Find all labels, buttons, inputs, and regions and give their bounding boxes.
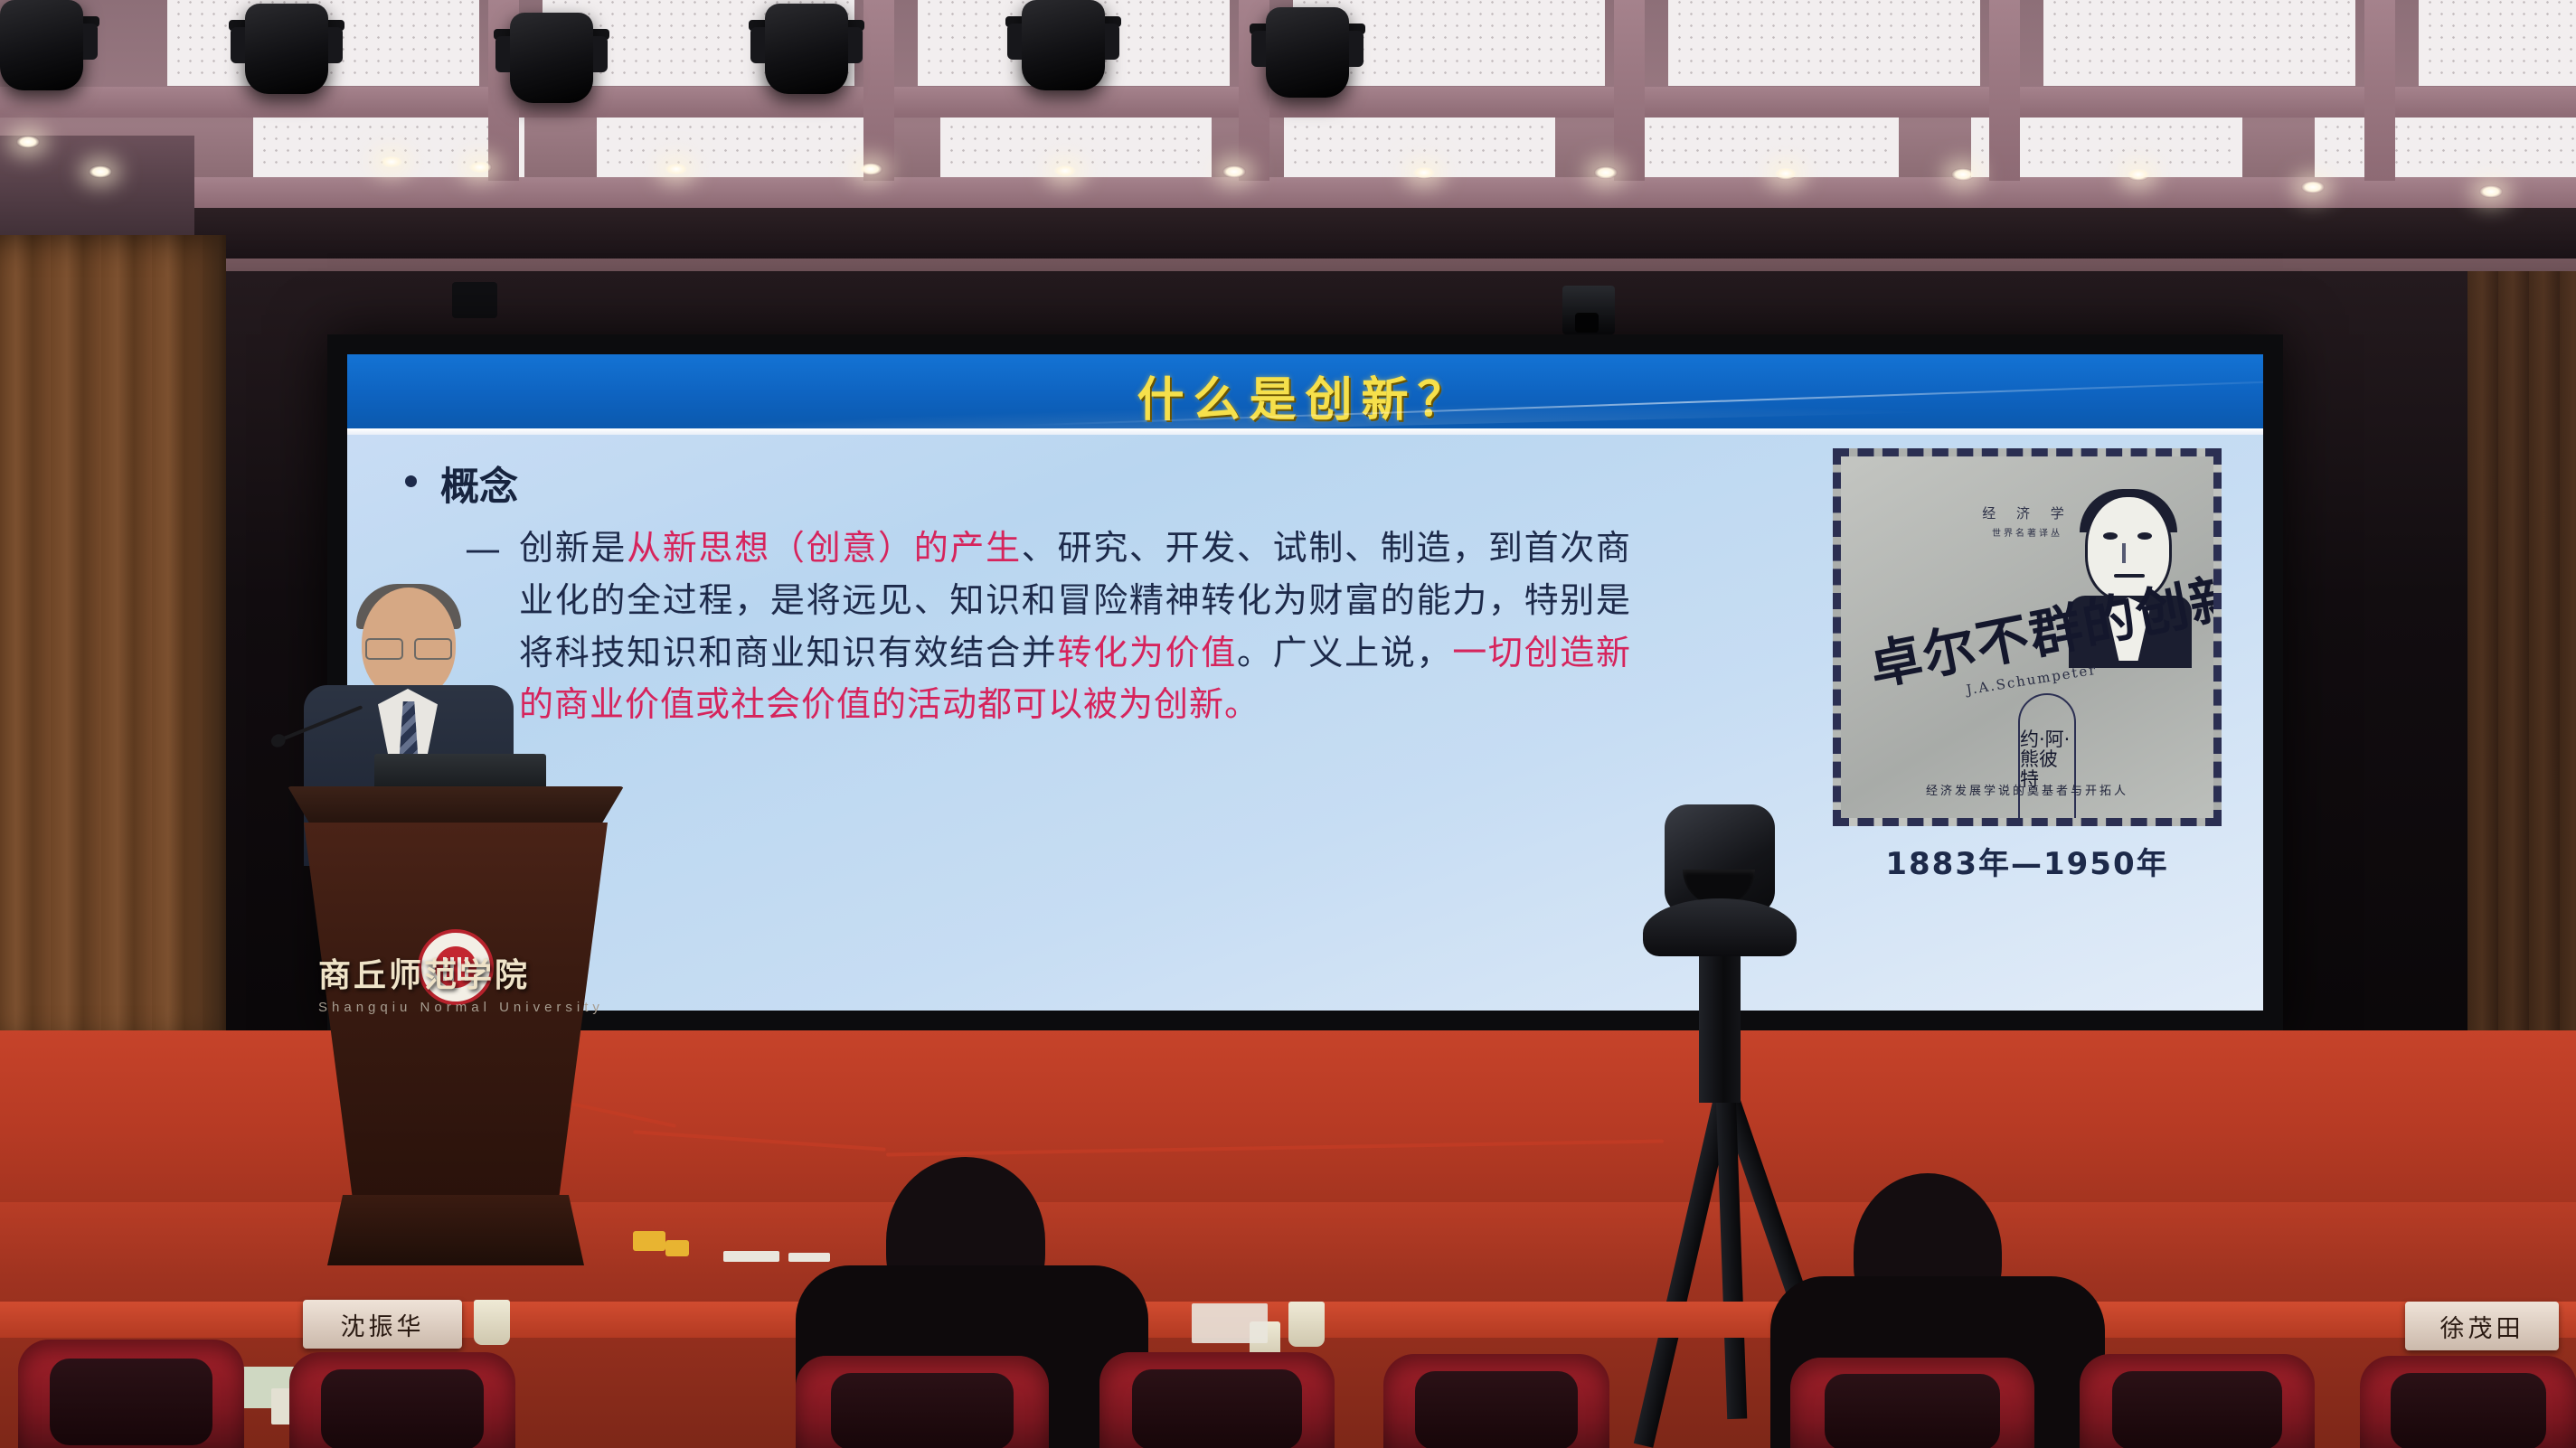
nameplate: 徐茂田 xyxy=(2405,1302,2559,1350)
body-part-0: 创新是 xyxy=(519,528,627,568)
downlight xyxy=(665,163,688,175)
book-author-chinese: 约·阿·熊彼特 xyxy=(2018,693,2076,825)
lectern xyxy=(288,786,624,1265)
downlight xyxy=(1594,166,1618,179)
slide-title: 什么是创新？ xyxy=(347,362,2263,428)
downlight xyxy=(1951,168,1975,181)
downlight xyxy=(2301,181,2325,193)
book-figure: 经 济 学 世界名著译丛 卓尔不群的创新 J.A.Schumpeter 约·阿·… xyxy=(1833,448,2222,883)
slide-bullet-level2: — 创新是从新思想（创意）的产生、研究、开发、试制、制造，到首次商业化的全过程，… xyxy=(465,522,1640,731)
downlight xyxy=(89,165,112,178)
auditorium-seat xyxy=(1383,1354,1609,1448)
paper-on-floor xyxy=(723,1251,779,1262)
book-cover-image: 经 济 学 世界名著译丛 卓尔不群的创新 J.A.Schumpeter 约·阿·… xyxy=(1833,448,2222,826)
downlight xyxy=(2127,168,2150,181)
title-underline xyxy=(347,428,2263,435)
slide-body-paragraph: 创新是从新思想（创意）的产生、研究、开发、试制、制造，到首次商业化的全过程，是将… xyxy=(519,522,1631,731)
nameplate-paper xyxy=(1192,1303,1268,1343)
stage-light xyxy=(765,4,848,94)
wood-panel-left xyxy=(0,235,226,1048)
stage-light xyxy=(1022,0,1105,90)
lecture-hall-scene: 什么是创新？ 概念 — 创新是从新思想（创意）的产生、研究、开发、试制、制造，到… xyxy=(0,0,2576,1448)
presentation-slide: 什么是创新？ 概念 — 创新是从新思想（创意）的产生、研究、开发、试制、制造，到… xyxy=(347,354,2263,1011)
venue-banner: 商丘师范学院 Shangqiu Normal University xyxy=(318,949,580,1021)
downlight xyxy=(1053,165,1077,177)
downlight xyxy=(380,155,403,168)
stage-light xyxy=(510,13,593,103)
venue-banner-chinese: 商丘师范学院 xyxy=(318,949,580,996)
paper-cup xyxy=(1288,1302,1325,1347)
paper-cup xyxy=(474,1300,510,1345)
downlight xyxy=(1412,166,1436,179)
tripod-column xyxy=(1699,949,1741,1103)
slide-title-band: 什么是创新？ xyxy=(347,354,2263,428)
body-part-1-highlight: 从新思想（创意）的产生 xyxy=(627,528,1022,568)
downlight xyxy=(1222,165,1246,178)
dash-marker: — xyxy=(465,522,501,577)
auditorium-seat xyxy=(2080,1354,2315,1448)
floor-adapter xyxy=(633,1231,665,1251)
ceiling-camera-lens xyxy=(1575,313,1599,333)
downlight xyxy=(1774,167,1798,180)
auditorium-seat xyxy=(1099,1352,1335,1448)
downlight xyxy=(468,161,492,174)
stage-light xyxy=(1266,7,1349,98)
auditorium-seat xyxy=(289,1352,515,1448)
downlight xyxy=(859,163,882,175)
bullet-dot-icon xyxy=(405,475,417,487)
book-footer-line: 经济发展学说的奠基者与开拓人 xyxy=(1841,781,2213,798)
bullet-level1-label: 概念 xyxy=(440,456,518,512)
wood-panel-right xyxy=(2467,271,2576,1048)
body-part-3-highlight: 转化为价值 xyxy=(1057,633,1237,672)
lectern-base xyxy=(327,1195,584,1265)
floor-adapter xyxy=(665,1240,689,1256)
auditorium-seat xyxy=(2360,1356,2576,1448)
body-part-4: 。广义上说， xyxy=(1237,633,1452,672)
downlight xyxy=(16,136,40,148)
downlight xyxy=(2479,185,2503,198)
slide-bullet-level1: 概念 xyxy=(405,456,518,512)
venue-banner-english: Shangqiu Normal University xyxy=(318,1000,580,1015)
book-caption-years: 1883年—1950年 xyxy=(1833,839,2222,883)
eyeglasses-icon xyxy=(365,638,452,656)
lectern-top xyxy=(288,786,624,826)
stage-light xyxy=(245,4,328,94)
stage-light xyxy=(0,0,83,90)
auditorium-seat xyxy=(18,1340,244,1448)
paper-on-floor xyxy=(788,1253,830,1262)
auditorium-seat xyxy=(1790,1358,2034,1448)
ptz-camera-icon xyxy=(1643,804,1797,956)
ceiling-camera-mount xyxy=(452,282,497,318)
auditorium-seat xyxy=(796,1356,1049,1448)
nameplate: 沈振华 xyxy=(303,1300,462,1349)
